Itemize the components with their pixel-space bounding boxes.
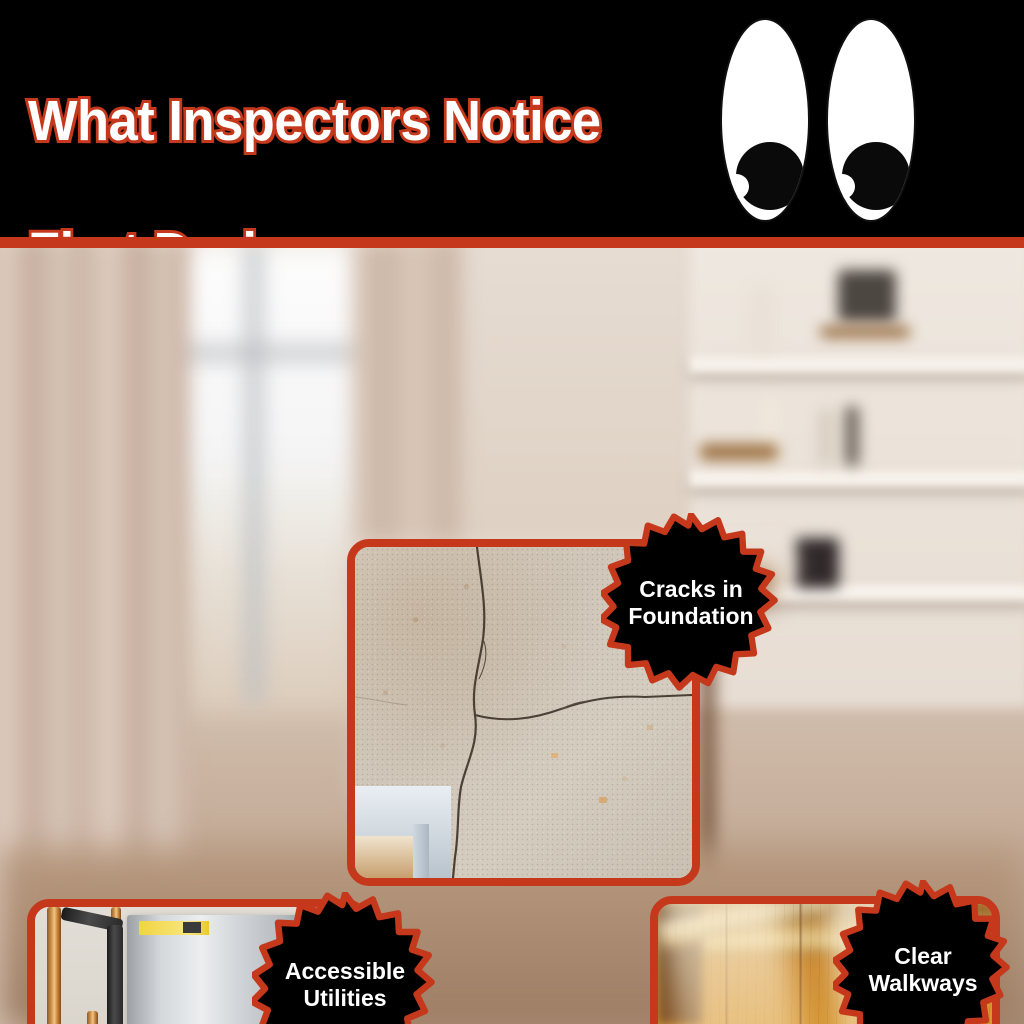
eye-right [828, 20, 914, 220]
body-area: Cracks in Foundation Accessible Utilitie… [0, 248, 1024, 1024]
baseboard-shadow [355, 836, 413, 878]
flex-line [107, 925, 123, 1024]
badge-clear-walkways[interactable]: Clear Walkways [833, 880, 1013, 1024]
background-shelf-object [818, 408, 834, 466]
glint-right [830, 174, 855, 199]
badge-cracks-in-foundation[interactable]: Cracks in Foundation [601, 513, 781, 693]
infographic-canvas: What Inspectors Notice First During a Ho… [0, 0, 1024, 1024]
background-window-mullion [246, 248, 262, 702]
header-divider-bar [0, 237, 1024, 248]
copper-pipe [87, 1011, 98, 1024]
header-band: What Inspectors Notice First During a Ho… [0, 0, 1024, 237]
background-shelf-object [820, 326, 910, 338]
copper-pipe [47, 907, 61, 1024]
background-shelf-board [690, 356, 1024, 373]
eyes-emoji-icon [716, 20, 926, 225]
pupil-left [736, 142, 804, 210]
pupil-right [842, 142, 910, 210]
background-shelf-object [795, 538, 839, 588]
badge-label: Clear Walkways [868, 943, 977, 997]
badge-label: Accessible Utilities [285, 958, 405, 1012]
background-shelf-object [838, 270, 896, 322]
background-shelf-board [690, 470, 1024, 487]
background-shelf-object [750, 286, 772, 352]
badge-label: Cracks in Foundation [628, 576, 753, 630]
baseboard-edge [413, 824, 429, 878]
heater-label-mark [183, 922, 201, 933]
headline-line-2: First During a [28, 220, 654, 237]
glint-left [724, 174, 749, 199]
background-shelf-object [845, 406, 859, 466]
eye-left [722, 20, 808, 220]
headline-line-1: What Inspectors Notice [28, 88, 654, 154]
page-title: What Inspectors Notice First During a Ho… [28, 22, 654, 237]
wall-baseboard [355, 786, 451, 878]
background-shelf-object [700, 444, 778, 460]
badge-accessible-utilities[interactable]: Accessible Utilities [252, 892, 438, 1024]
